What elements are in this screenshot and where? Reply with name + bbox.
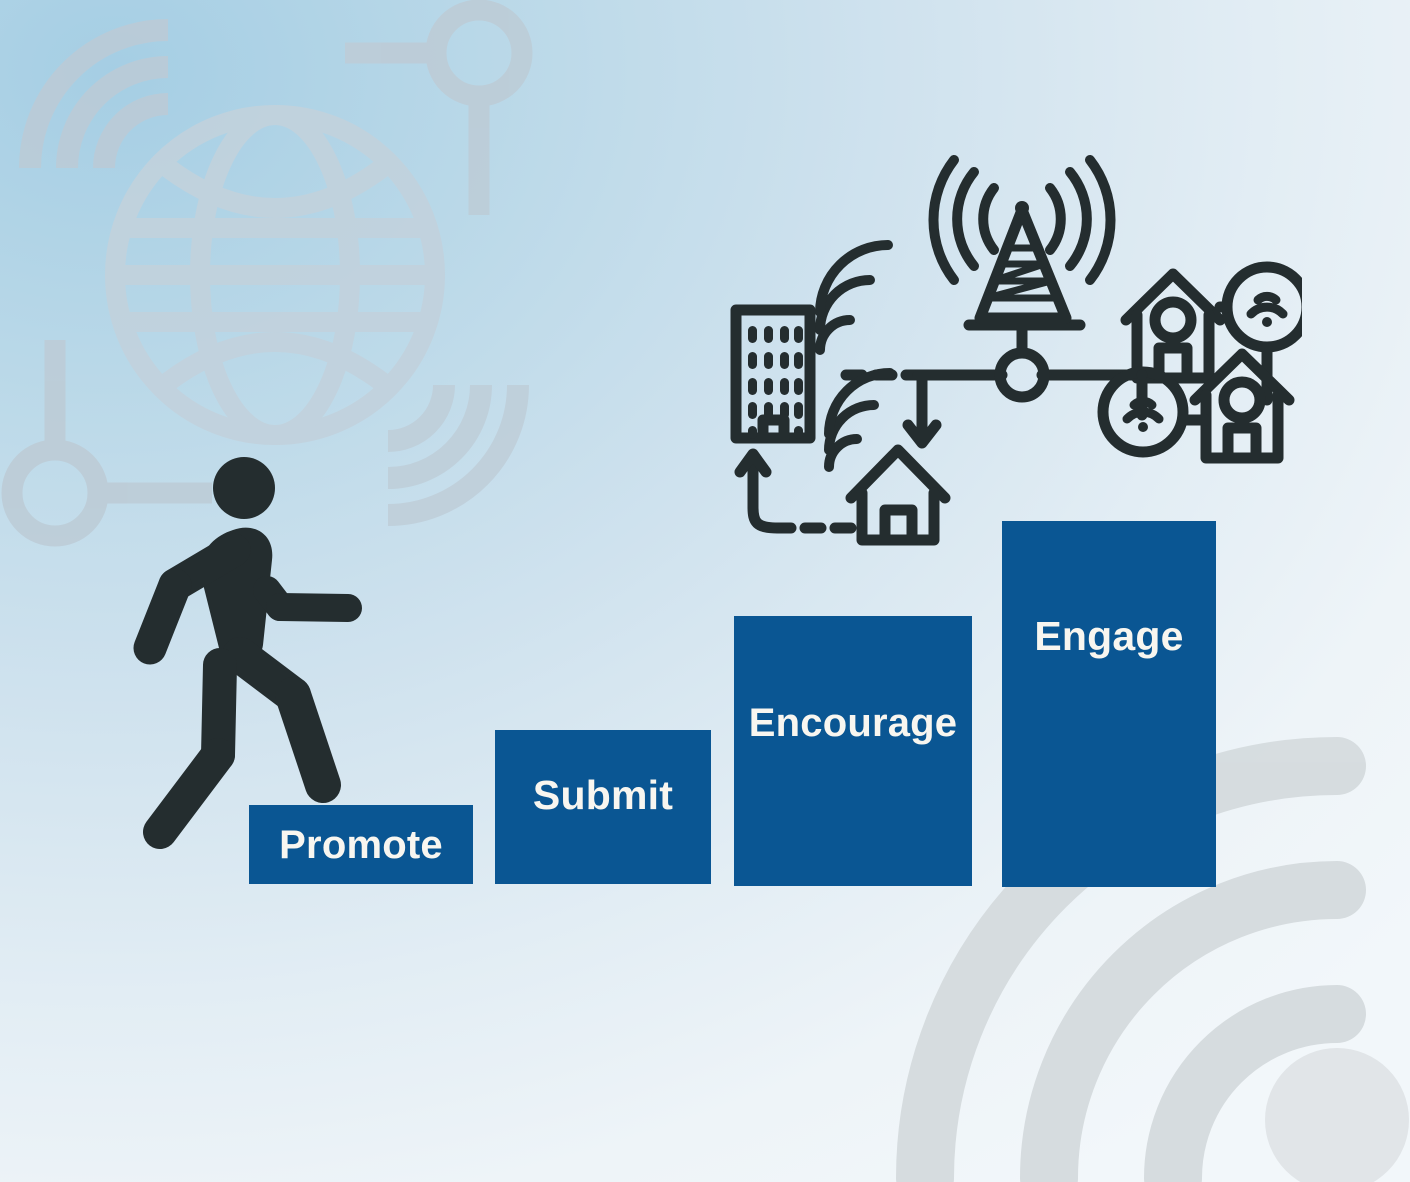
bar-label-encourage: Encourage xyxy=(749,703,958,743)
wifi-signal-dot-icon xyxy=(1265,1048,1409,1182)
bar-label-engage: Engage xyxy=(1034,616,1183,657)
bar-engage[interactable]: Engage xyxy=(1002,521,1216,887)
bar-promote[interactable]: Promote xyxy=(249,805,473,884)
bar-label-submit: Submit xyxy=(533,775,673,816)
runner-head xyxy=(213,457,275,519)
running-person-icon xyxy=(130,440,380,860)
runner-front-arm xyxy=(267,590,348,608)
network-node-icon xyxy=(345,10,522,215)
wifi-arcs-icon xyxy=(820,245,888,350)
bar-encourage[interactable]: Encourage xyxy=(734,616,972,886)
runner-back-leg xyxy=(160,665,220,832)
house-icon xyxy=(851,450,945,540)
wifi-arcs-icon xyxy=(388,385,518,515)
bar-label-promote: Promote xyxy=(279,825,443,865)
infographic-canvas: Promote Submit Encourage Engage xyxy=(0,0,1410,1182)
runner-front-leg xyxy=(240,655,323,785)
wifi-arcs-icon xyxy=(829,373,890,467)
wifi-arcs-icon xyxy=(30,30,168,168)
wifi-arcs-icon xyxy=(933,160,994,280)
arrow-down-icon xyxy=(908,376,936,443)
wifi-arcs-icon xyxy=(1050,160,1111,280)
wifi-router-icon xyxy=(1227,267,1302,347)
globe-icon xyxy=(115,115,435,435)
house-icon xyxy=(1126,274,1220,378)
broadband-network-diagram xyxy=(722,150,1302,550)
bar-submit[interactable]: Submit xyxy=(495,730,711,884)
office-building-icon xyxy=(736,310,810,439)
